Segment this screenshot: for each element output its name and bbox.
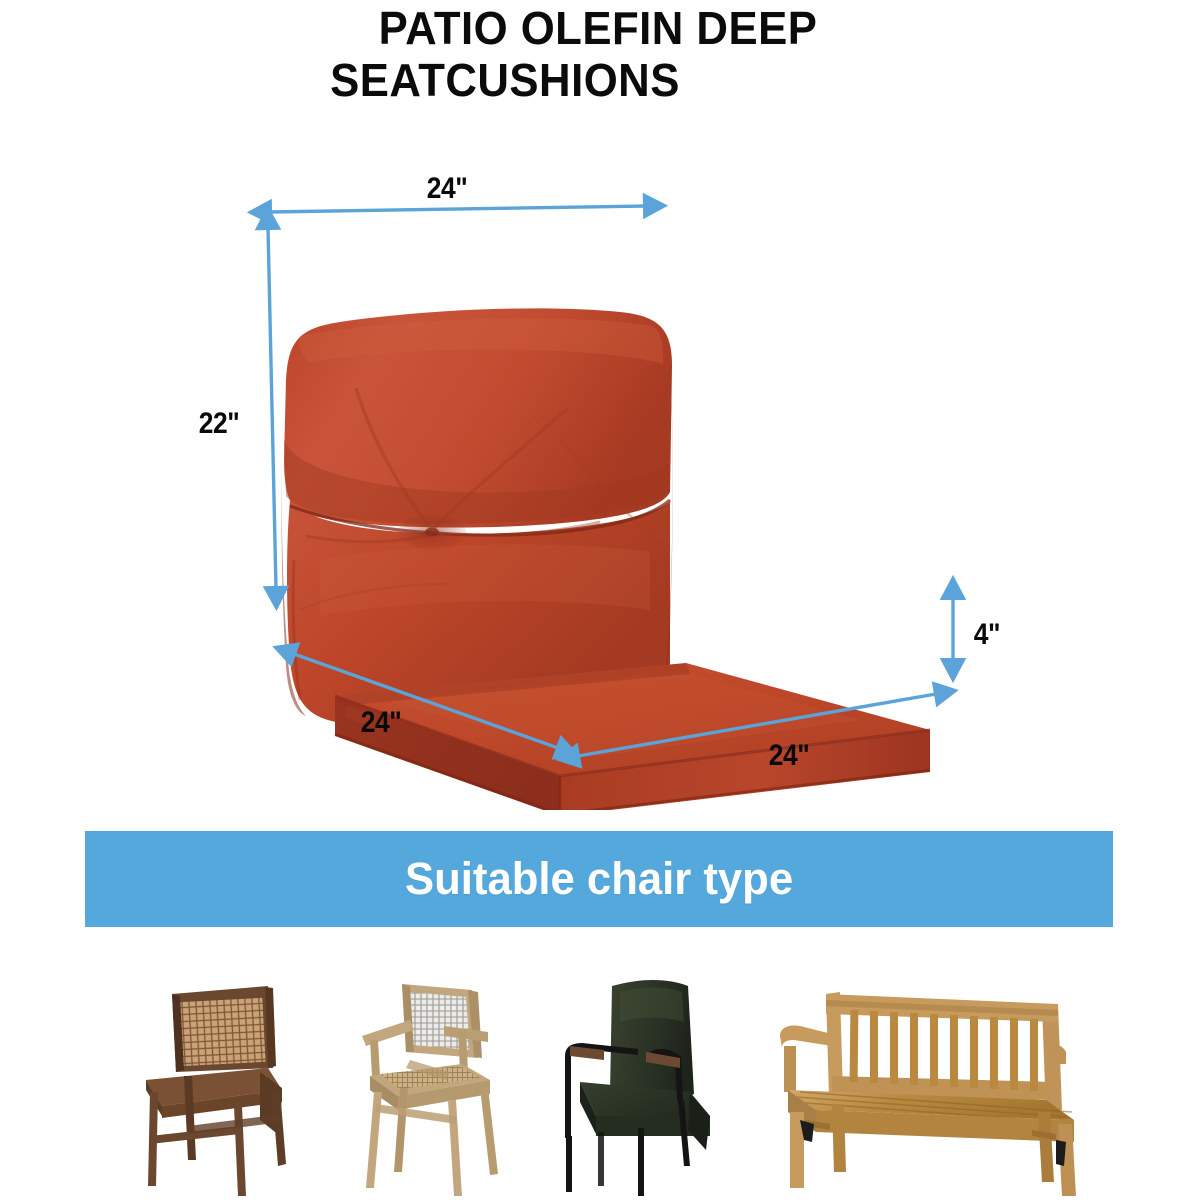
walnut-cane-lounge-chair-icon [110, 960, 340, 1200]
chair-type-gallery [0, 960, 1200, 1200]
title-line-2: SEATCUSHIONS [0, 54, 1165, 106]
dimension-label-left-height: 22" [199, 407, 240, 441]
dim-line-left [268, 228, 276, 588]
banner-label: Suitable chair type [405, 853, 793, 905]
dim-line-top [270, 206, 645, 212]
dimension-label-bottom-right-width: 24" [769, 739, 810, 773]
suitable-chair-type-banner: Suitable chair type [85, 831, 1113, 927]
chair-item-walnut-cane-lounge-chair [110, 960, 340, 1200]
dimension-label-top-width: 24" [427, 172, 468, 206]
dimension-label-right-thickness: 4" [974, 618, 1000, 652]
product-dimension-diagram: 24" 22" 4" 24" 24" [0, 140, 1200, 810]
back-cushion [282, 308, 673, 731]
green-upholstered-armchair-icon [560, 960, 770, 1200]
oak-cane-armchair-icon [340, 960, 560, 1200]
chair-item-teak-slat-garden-bench [770, 960, 1100, 1200]
cushion-illustration [0, 140, 1200, 810]
chair-item-green-upholstered-armchair [560, 960, 770, 1200]
title-line-1: PATIO OLEFIN DEEP [26, 2, 1170, 54]
chair-item-oak-cane-armchair [340, 960, 560, 1200]
dimension-label-bottom-left-depth: 24" [361, 706, 402, 740]
page-title: PATIO OLEFIN DEEP SEATCUSHIONS [0, 2, 1200, 106]
teak-slat-garden-bench-icon [770, 960, 1100, 1200]
